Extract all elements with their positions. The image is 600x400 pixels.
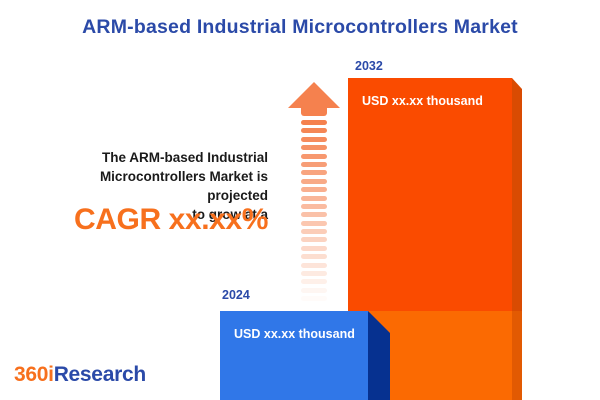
arrow-segment: [301, 229, 327, 234]
bar-2024-front-face: [220, 311, 368, 400]
logo-text-orange: 360i: [14, 363, 54, 386]
infographic-canvas: ARM-based Industrial Microcontrollers Ma…: [0, 0, 600, 400]
bar-label-2024: 2024: [222, 288, 250, 302]
arrow-segment: [301, 154, 327, 159]
cagr-value: CAGR xx.xx%: [38, 203, 268, 237]
callout-line-2: Microcontrollers Market is projected: [38, 167, 268, 205]
arrow-segment: [301, 162, 327, 167]
arrow-segment: [301, 120, 327, 125]
brand-logo: 360iResearch: [14, 363, 146, 387]
arrow-segment: [301, 279, 327, 284]
arrow-segment: [301, 187, 327, 192]
bar-2024-value: USD xx.xx thousand: [234, 327, 355, 341]
arrow-segment: [301, 254, 327, 259]
arrow-segment: [301, 128, 327, 133]
up-arrow-growth-icon: [288, 82, 340, 287]
arrow-head-icon: [288, 82, 340, 108]
arrow-segment: [301, 296, 327, 301]
callout-line-1: The ARM-based Industrial: [38, 148, 268, 167]
arrow-segment: [301, 145, 327, 150]
arrow-segment: [301, 137, 327, 142]
arrow-segment: [301, 221, 327, 226]
arrow-segment: [301, 170, 327, 175]
bar-2032-side-face-lower: [512, 311, 522, 400]
arrow-neck: [301, 107, 327, 116]
arrow-segment: [301, 179, 327, 184]
bar-2032-value: USD xx.xx thousand: [362, 94, 483, 108]
logo-text-blue: Research: [54, 363, 146, 386]
arrow-segment: [301, 196, 327, 201]
arrow-segment: [301, 204, 327, 209]
arrow-segment: [301, 271, 327, 276]
arrow-segment: [301, 288, 327, 293]
page-title: ARM-based Industrial Microcontrollers Ma…: [0, 16, 600, 39]
arrow-segment: [301, 237, 327, 242]
arrow-segment: [301, 212, 327, 217]
bar-label-2032: 2032: [355, 59, 383, 73]
arrow-gradient-bars: [301, 120, 327, 286]
arrow-segment: [301, 246, 327, 251]
arrow-segment: [301, 263, 327, 268]
